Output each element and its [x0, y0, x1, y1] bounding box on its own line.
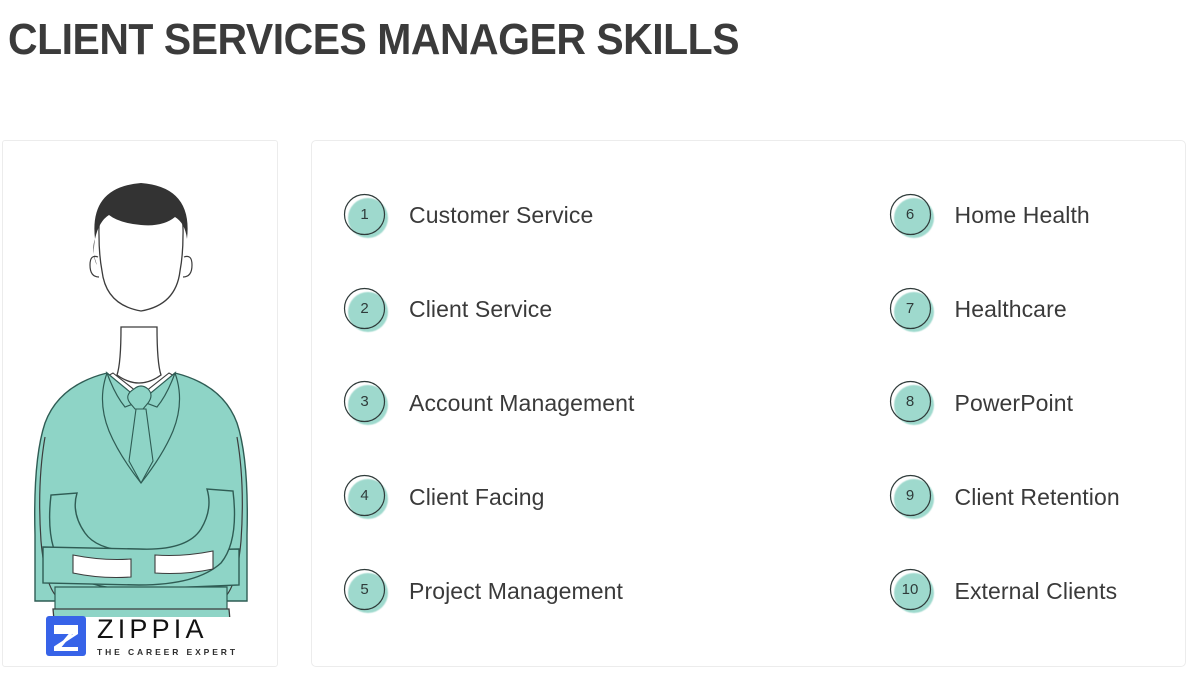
skill-label: PowerPoint	[955, 390, 1074, 417]
skill-rank-badge: 10	[889, 568, 935, 614]
illustration-panel	[2, 140, 278, 667]
skill-rank-badge: 9	[889, 474, 935, 520]
skill-rank-badge: 6	[889, 193, 935, 239]
zippia-wordmark-group: ZIPPIA THE CAREER EXPERT	[97, 616, 238, 657]
skill-rank-number: 6	[889, 193, 932, 236]
businessman-illustration	[2, 140, 278, 617]
skill-item[interactable]: 4Client Facing	[312, 450, 749, 544]
skill-rank-badge: 8	[889, 380, 935, 426]
skill-item[interactable]: 10External Clients	[749, 544, 1186, 638]
zippia-z-mark-icon	[44, 614, 88, 658]
skill-rank-number: 8	[889, 380, 932, 423]
zippia-wordmark: ZIPPIA	[97, 616, 238, 643]
skill-item[interactable]: 7Healthcare	[749, 263, 1186, 357]
skill-item[interactable]: 9Client Retention	[749, 450, 1186, 544]
skill-label: Customer Service	[409, 202, 593, 229]
skill-item[interactable]: 8PowerPoint	[749, 357, 1186, 451]
skill-label: Home Health	[955, 202, 1090, 229]
skill-label: Client Facing	[409, 484, 545, 511]
skill-rank-number: 7	[889, 287, 932, 330]
skill-rank-number: 1	[343, 193, 386, 236]
skill-label: Healthcare	[955, 296, 1067, 323]
skill-label: External Clients	[955, 578, 1118, 605]
skill-rank-badge: 3	[343, 380, 389, 426]
skill-rank-number: 5	[343, 568, 386, 611]
infographic-page: CLIENT SERVICES MANAGER SKILLS	[0, 0, 1200, 675]
skill-rank-badge: 7	[889, 287, 935, 333]
skill-rank-badge: 1	[343, 193, 389, 239]
skill-rank-number: 3	[343, 380, 386, 423]
skill-rank-number: 10	[889, 568, 932, 611]
skill-label: Account Management	[409, 390, 635, 417]
skill-item[interactable]: 1Customer Service	[312, 169, 749, 263]
skill-item[interactable]: 3Account Management	[312, 357, 749, 451]
page-title: CLIENT SERVICES MANAGER SKILLS	[8, 16, 739, 64]
skill-label: Client Retention	[955, 484, 1120, 511]
skill-item[interactable]: 2Client Service	[312, 263, 749, 357]
skill-rank-number: 4	[343, 474, 386, 517]
skills-card: 1Customer Service6Home Health2Client Ser…	[311, 140, 1186, 667]
skill-item[interactable]: 5Project Management	[312, 544, 749, 638]
skill-item[interactable]: 6Home Health	[749, 169, 1186, 263]
skill-rank-badge: 2	[343, 287, 389, 333]
skill-label: Project Management	[409, 578, 623, 605]
zippia-tagline: THE CAREER EXPERT	[97, 648, 238, 657]
skill-label: Client Service	[409, 296, 552, 323]
skill-rank-badge: 4	[343, 474, 389, 520]
skill-rank-number: 2	[343, 287, 386, 330]
skill-rank-badge: 5	[343, 568, 389, 614]
zippia-logo[interactable]: ZIPPIA THE CAREER EXPERT	[44, 614, 238, 658]
skills-list: 1Customer Service6Home Health2Client Ser…	[312, 141, 1185, 666]
skill-rank-number: 9	[889, 474, 932, 517]
